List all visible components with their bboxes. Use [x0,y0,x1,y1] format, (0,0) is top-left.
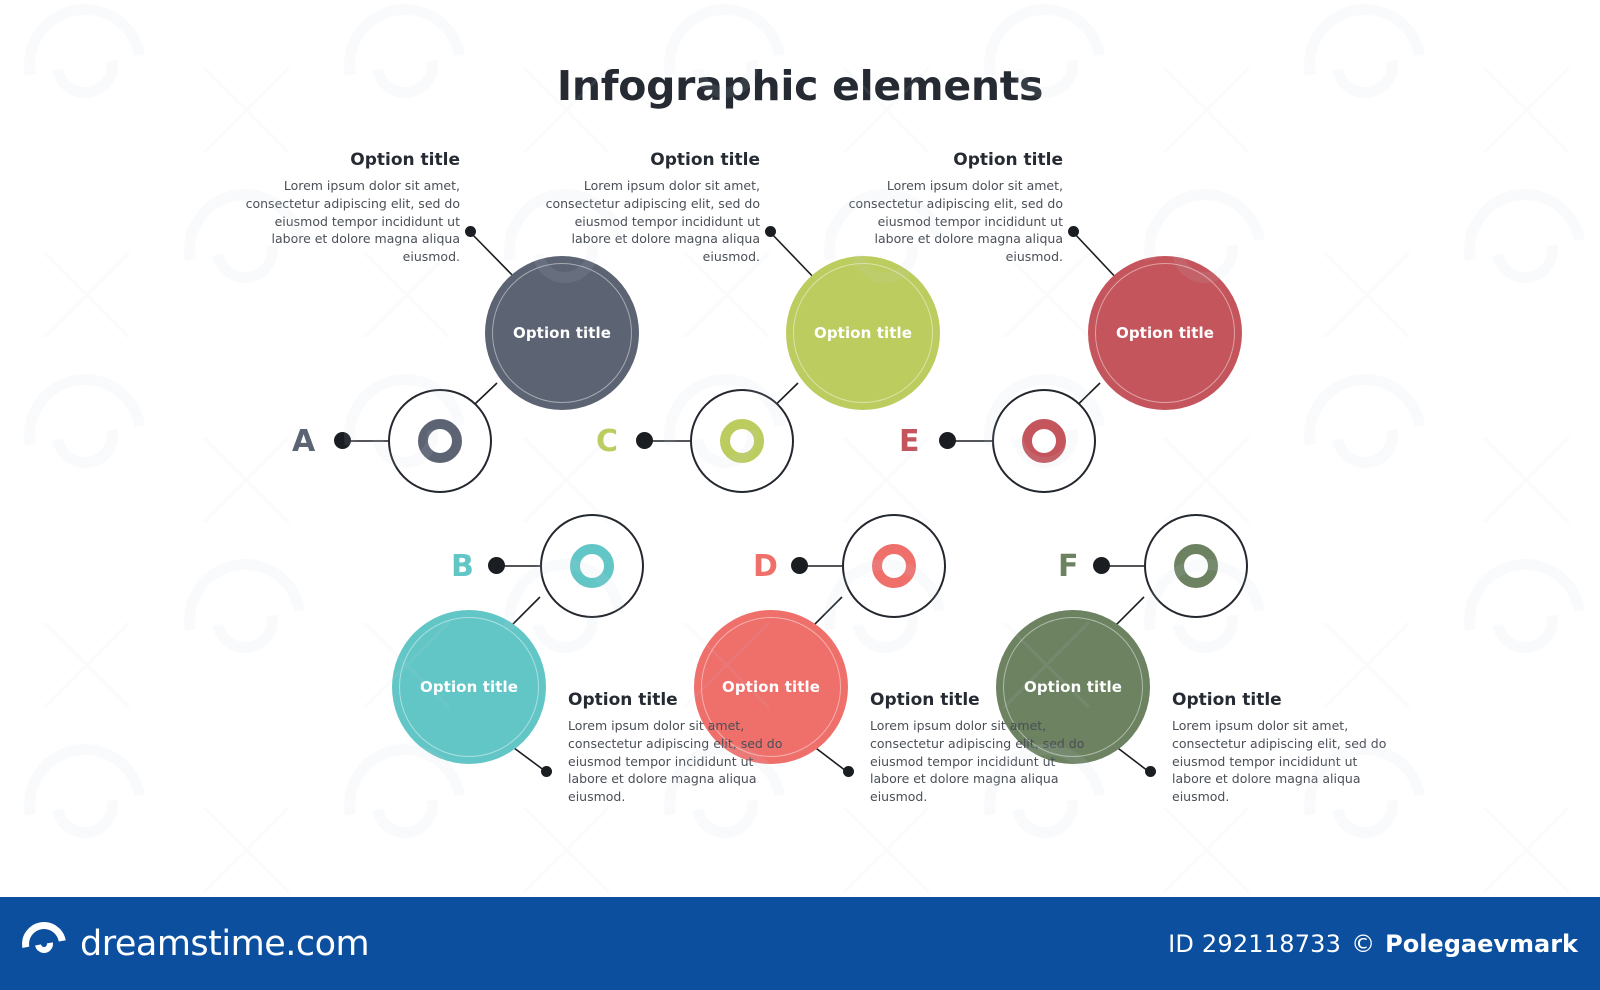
footer-credits: ID 292118733 © Polegaevmark [1168,930,1600,958]
letter-d: D [753,552,778,582]
page-title: Infographic elements [0,62,1600,110]
dreamstime-logo-icon [18,918,70,970]
text-block-f: Option title Lorem ipsum dolor sit amet,… [1172,690,1392,806]
letter-dot-e [939,432,956,449]
big-circle-a[interactable]: Option title [485,256,639,410]
option-title: Option title [240,150,460,170]
option-body: Lorem ipsum dolor sit amet, consectetur … [843,177,1063,266]
option-title: Option title [1172,690,1392,710]
option-body: Lorem ipsum dolor sit amet, consectetur … [240,177,460,266]
text-block-b: Option title Lorem ipsum dolor sit amet,… [568,690,788,806]
text-dot-d [843,766,854,777]
text-block-c: Option title Lorem ipsum dolor sit amet,… [540,150,760,266]
letter-e: E [899,427,920,457]
donut-icon [872,544,916,588]
big-circle-label: Option title [420,678,518,696]
donut-icon [418,419,462,463]
letter-dot-f [1093,557,1110,574]
connector-lines [0,0,1600,990]
text-dot-c [765,226,776,237]
brand-text: dreamstime.com [80,924,369,964]
option-body: Lorem ipsum dolor sit amet, consectetur … [870,717,1090,806]
image-id: ID 292118733 [1168,930,1341,958]
letter-c: C [596,427,618,457]
ring-circle-c[interactable] [690,389,794,493]
brand[interactable]: dreamstime.com [0,918,369,970]
letter-dot-c [636,432,653,449]
text-dot-a [465,226,476,237]
big-circle-e[interactable]: Option title [1088,256,1242,410]
big-circle-b[interactable]: Option title [392,610,546,764]
letter-f: F [1058,552,1079,582]
author-name: Polegaevmark [1385,930,1578,958]
option-title: Option title [540,150,760,170]
letter-a: A [292,427,315,457]
text-block-a: Option title Lorem ipsum dolor sit amet,… [240,150,460,266]
big-circle-c[interactable]: Option title [786,256,940,410]
donut-icon [1174,544,1218,588]
text-dot-e [1068,226,1079,237]
text-dot-f [1145,766,1156,777]
donut-icon [1022,419,1066,463]
big-circle-label: Option title [513,324,611,342]
option-body: Lorem ipsum dolor sit amet, consectetur … [1172,717,1392,806]
letter-dot-b [488,557,505,574]
option-title: Option title [843,150,1063,170]
donut-icon [720,419,764,463]
option-title: Option title [870,690,1090,710]
letter-b: B [451,552,474,582]
copyright-symbol: © [1351,930,1375,958]
footer-bar: dreamstime.com ID 292118733 © Polegaevma… [0,897,1600,990]
infographic-page: Infographic elements Option t [0,0,1600,990]
option-body: Lorem ipsum dolor sit amet, consectetur … [568,717,788,806]
ring-circle-d[interactable] [842,514,946,618]
text-dot-b [541,766,552,777]
letter-dot-d [791,557,808,574]
text-block-d: Option title Lorem ipsum dolor sit amet,… [870,690,1090,806]
ring-circle-e[interactable] [992,389,1096,493]
big-circle-label: Option title [1116,324,1214,342]
donut-icon [570,544,614,588]
ring-circle-a[interactable] [388,389,492,493]
big-circle-label: Option title [814,324,912,342]
text-block-e: Option title Lorem ipsum dolor sit amet,… [843,150,1063,266]
ring-circle-b[interactable] [540,514,644,618]
ring-circle-f[interactable] [1144,514,1248,618]
option-title: Option title [568,690,788,710]
letter-dot-a [334,432,351,449]
option-body: Lorem ipsum dolor sit amet, consectetur … [540,177,760,266]
